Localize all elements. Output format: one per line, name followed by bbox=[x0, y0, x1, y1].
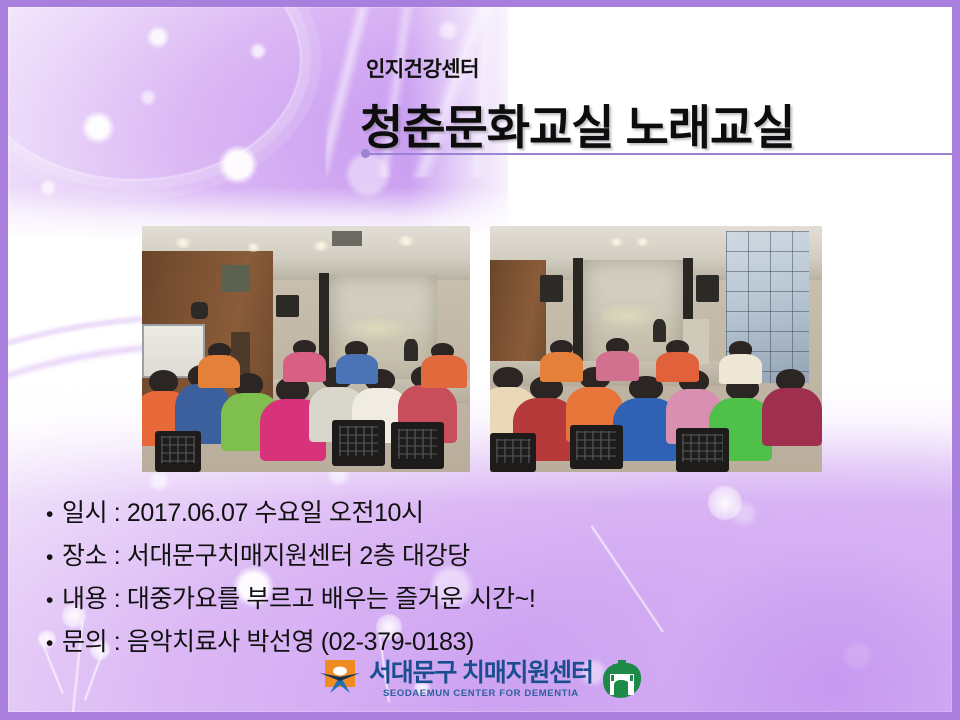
photo-audience bbox=[142, 334, 470, 472]
center-name-subtitle: 인지건강센터 bbox=[366, 53, 479, 83]
photo-chair bbox=[490, 433, 536, 472]
photo-chair bbox=[332, 420, 384, 467]
photo-ceiling-light bbox=[610, 238, 623, 245]
photo-ceiling-light bbox=[398, 236, 414, 246]
gate-logo-icon bbox=[600, 659, 644, 701]
frame-border-left bbox=[0, 0, 8, 720]
photo-ceiling-light bbox=[636, 238, 649, 245]
photo-projector bbox=[332, 231, 362, 246]
list-item: • 장소 : 서대문구치매지원센터 2층 대강당 bbox=[46, 536, 535, 572]
audience-body bbox=[762, 388, 822, 446]
audience-body bbox=[336, 354, 379, 384]
photo-speaker bbox=[696, 275, 719, 302]
logo-korean-name: 서대문구 치매지원센터 bbox=[369, 661, 593, 686]
poster-slide: 인지건강센터 청춘문화교실 노래교실 bbox=[0, 0, 960, 720]
photo-speaker bbox=[276, 295, 299, 317]
bullet-icon: • bbox=[46, 504, 62, 525]
bullet-icon: • bbox=[46, 547, 62, 568]
frame-border-right bbox=[952, 0, 960, 720]
photo-speaker bbox=[191, 302, 207, 319]
photo-wall-vent bbox=[221, 265, 251, 292]
photo-chair bbox=[155, 431, 201, 472]
audience-body bbox=[421, 355, 467, 388]
photo-chair bbox=[391, 422, 443, 469]
audience-body bbox=[283, 352, 326, 382]
audience-body bbox=[656, 352, 699, 382]
audience-body bbox=[719, 354, 762, 384]
list-item: • 내용 : 대중가요를 부르고 배우는 즐거운 시간~! bbox=[46, 579, 535, 615]
audience-body bbox=[198, 355, 241, 388]
divider-dot bbox=[361, 149, 370, 158]
photo-ceiling-light bbox=[313, 241, 329, 251]
auditorium-photo-left bbox=[142, 226, 470, 472]
photo-chair bbox=[676, 428, 729, 472]
detail-location: 장소 : 서대문구치매지원센터 2층 대강당 bbox=[62, 536, 470, 572]
audience-body bbox=[596, 351, 639, 381]
audience-head bbox=[149, 370, 179, 393]
decorative-arc-rings bbox=[8, 7, 302, 181]
photo-chair bbox=[570, 425, 623, 469]
bullet-icon: • bbox=[46, 633, 62, 654]
frame-border-bottom bbox=[0, 712, 960, 720]
organization-logo: 서대문구 치매지원센터 SEODAEMUN CENTER FOR DEMENTI… bbox=[318, 653, 644, 707]
poster-title: 청춘문화교실 노래교실 bbox=[360, 89, 794, 158]
detail-content: 내용 : 대중가요를 부르고 배우는 즐거운 시간~! bbox=[62, 579, 535, 615]
photo-ceiling-light bbox=[247, 243, 260, 252]
audience-body bbox=[540, 352, 583, 382]
logo-english-name: SEODAEMUN CENTER FOR DEMENTIA bbox=[369, 689, 593, 699]
photo-audience bbox=[490, 334, 822, 472]
bullet-icon: • bbox=[46, 590, 62, 611]
poster-canvas: 인지건강센터 청춘문화교실 노래교실 bbox=[8, 7, 952, 712]
detail-datetime: 일시 : 2017.06.07 수요일 오전10시 bbox=[62, 493, 424, 529]
photo-speaker bbox=[540, 275, 563, 302]
header-divider bbox=[366, 153, 952, 155]
person-star-logo-icon bbox=[318, 659, 362, 701]
frame-border-top bbox=[0, 0, 960, 7]
logo-text-block: 서대문구 치매지원센터 SEODAEMUN CENTER FOR DEMENTI… bbox=[369, 661, 593, 699]
auditorium-photo-right bbox=[490, 226, 822, 472]
list-item: • 일시 : 2017.06.07 수요일 오전10시 bbox=[46, 493, 535, 529]
event-details-list: • 일시 : 2017.06.07 수요일 오전10시 • 장소 : 서대문구치… bbox=[46, 493, 535, 665]
